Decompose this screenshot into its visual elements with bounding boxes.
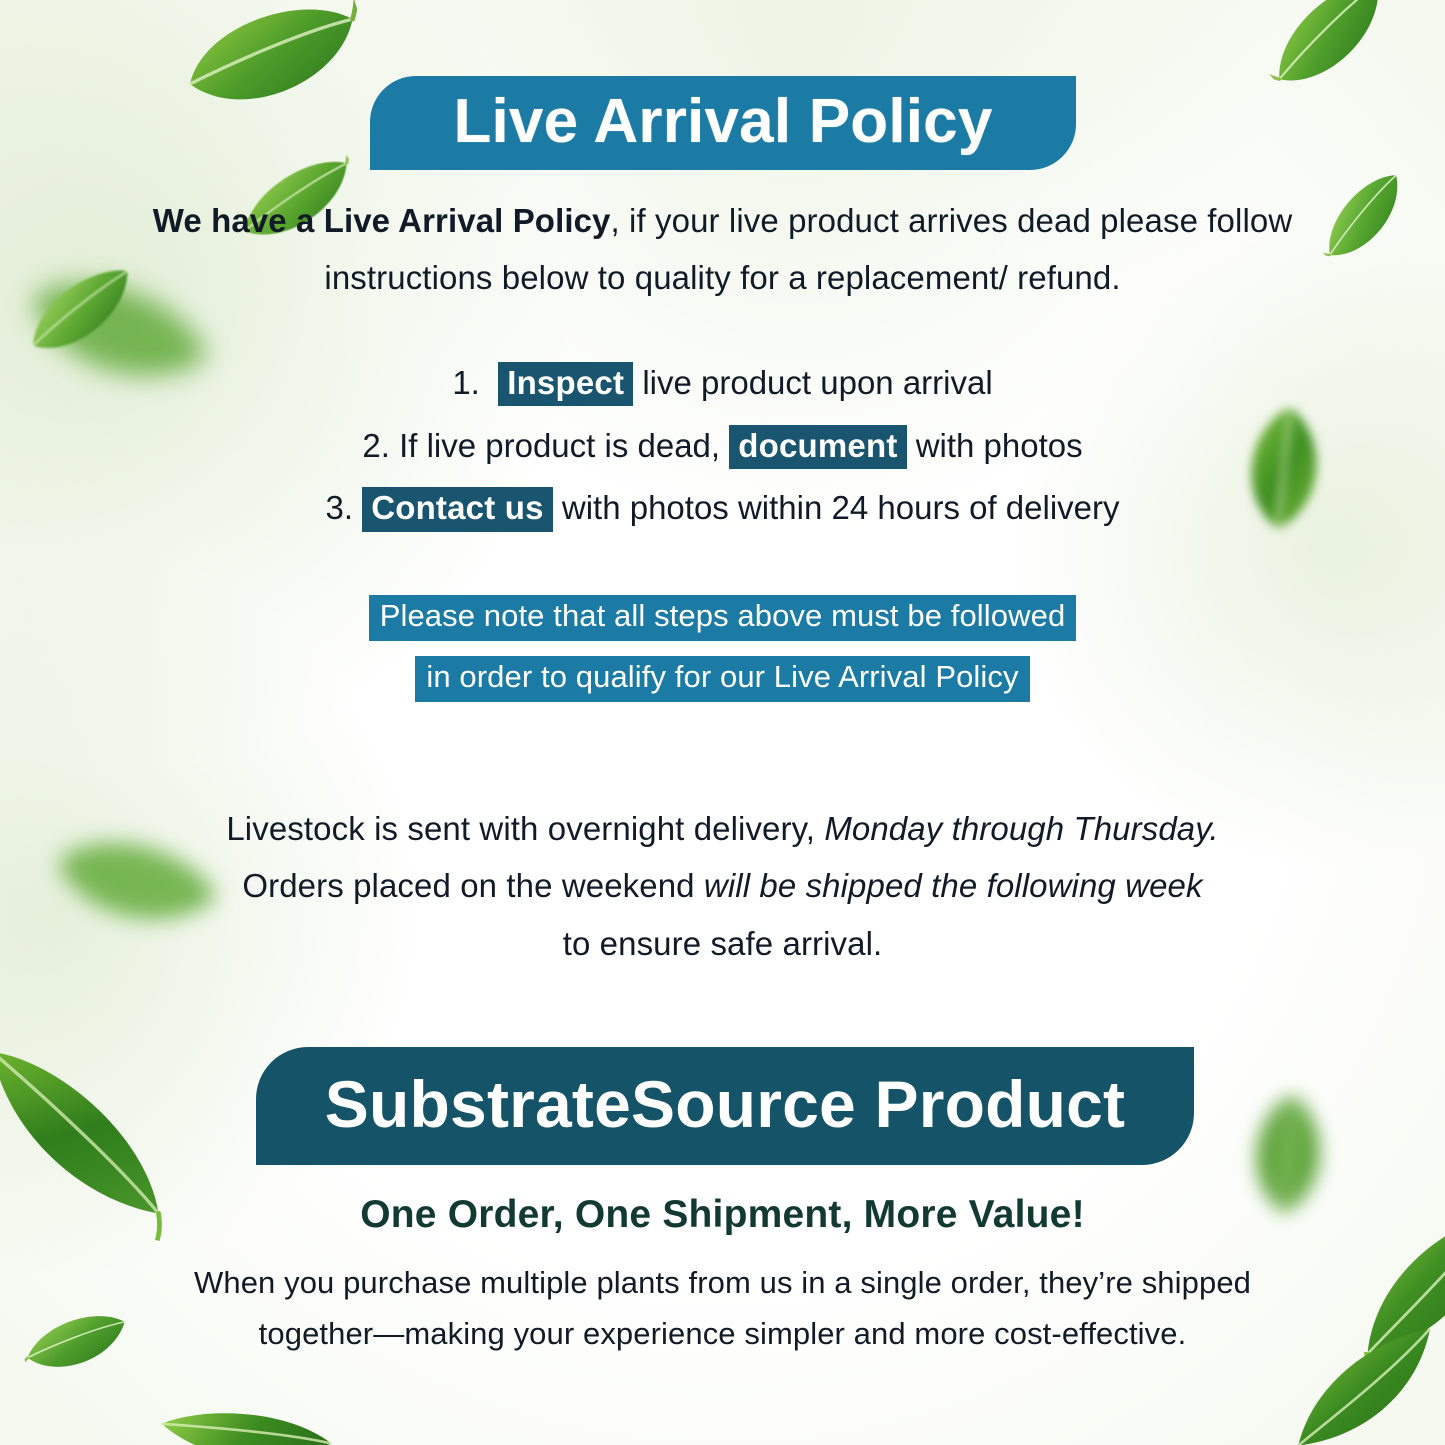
substratesource-product-banner: SubstrateSource Product [256,1047,1194,1165]
shipping-line-2-italic: will be shipped the following week [704,867,1203,904]
step-number: 1. [452,364,480,401]
live-arrival-policy-banner: Live Arrival Policy [370,76,1076,170]
shipping-line-2-plain: Orders placed on the weekend [242,867,694,904]
shipping-line-1-plain: Livestock is sent with overnight deliver… [226,810,815,847]
policy-infographic-page: Live Arrival Policy We have a Live Arriv… [0,0,1445,1445]
step-number: 3. [325,489,353,526]
policy-note-block: Please note that all steps above must be… [160,585,1285,708]
note-line-1-row: Please note that all steps above must be… [160,585,1285,646]
value-proposition-body: When you purchase multiple plants from u… [160,1258,1285,1359]
step-text: live product upon arrival [642,364,992,401]
policy-steps-list: 1. Inspect live product upon arrival 2. … [160,352,1285,540]
note-line-2-row: in order to qualify for our Live Arrival… [160,646,1285,707]
policy-step-3: 3. Contact us with photos within 24 hour… [160,477,1285,540]
policy-step-2: 2. If live product is dead, document wit… [160,415,1285,478]
shipping-schedule-paragraph: Livestock is sent with overnight deliver… [190,800,1255,972]
shipping-line-3-plain: to ensure safe arrival. [563,925,883,962]
step-text: with photos [916,427,1083,464]
intro-paragraph: We have a Live Arrival Policy, if your l… [150,193,1295,307]
note-line-1: Please note that all steps above must be… [369,595,1077,641]
note-line-2: in order to qualify for our Live Arrival… [415,656,1029,702]
value-proposition-heading: One Order, One Shipment, More Value! [160,1193,1285,1237]
step-highlight-inspect: Inspect [498,362,633,406]
step-text-before: If live product is dead, [399,427,720,464]
intro-lead-text: We have a Live Arrival Policy [153,202,611,239]
step-number: 2. [362,427,390,464]
step-highlight-contact-us[interactable]: Contact us [362,487,553,531]
page-title: Live Arrival Policy [453,86,992,157]
product-banner-title: SubstrateSource Product [325,1066,1125,1142]
step-text: with photos within 24 hours of delivery [562,489,1120,526]
step-highlight-document: document [729,425,906,469]
policy-step-1: 1. Inspect live product upon arrival [160,352,1285,415]
shipping-line-1-italic: Monday through Thursday. [824,810,1218,847]
